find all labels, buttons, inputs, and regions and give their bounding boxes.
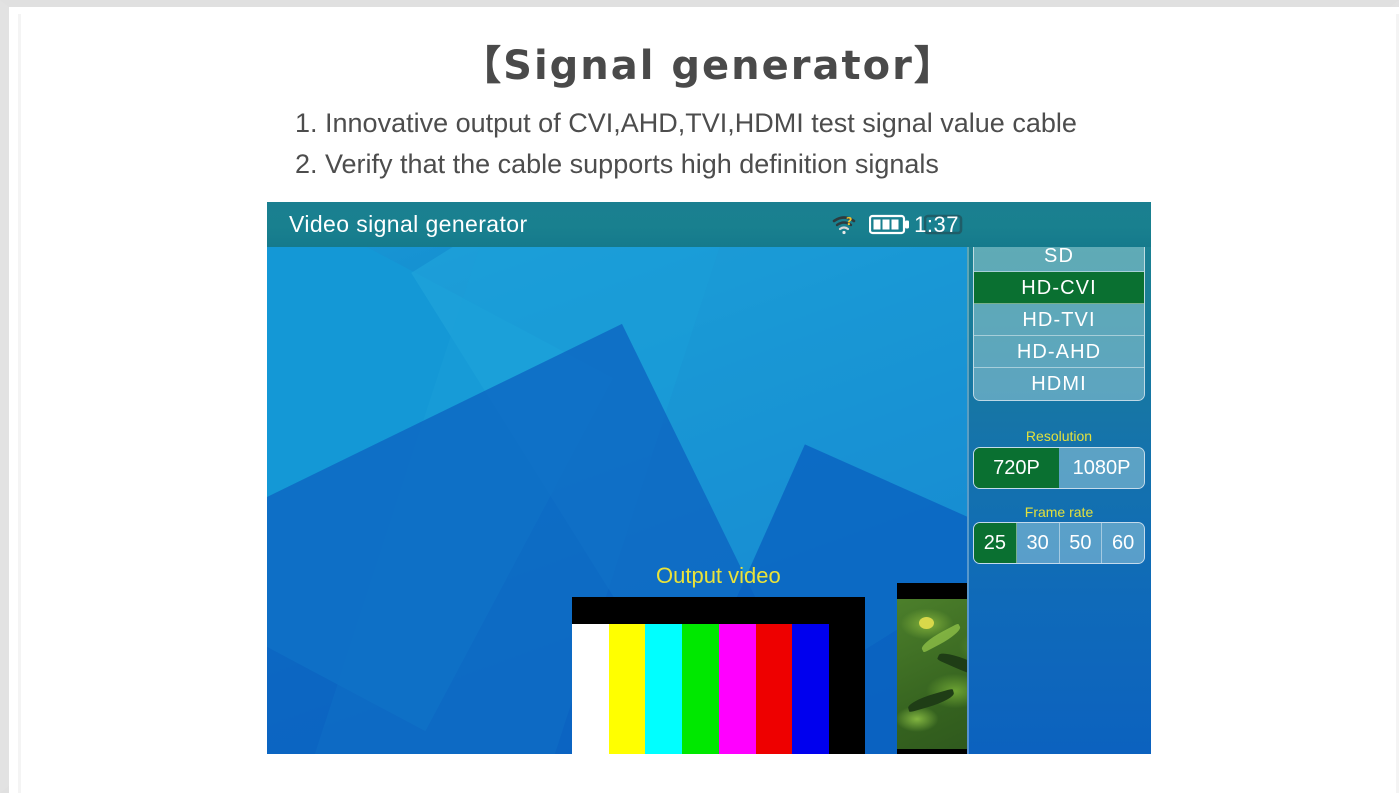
color-bars: [572, 624, 829, 754]
control-panel: Signal type selection SD HD-CVI HD-TVI H…: [967, 202, 1151, 754]
slide-canvas: 【Signal generator】 1. Innovative output …: [9, 7, 1399, 800]
yellow-flower: [919, 617, 934, 629]
signal-type-item-hd-tvi[interactable]: HD-TVI: [974, 304, 1144, 336]
titlebar: Video signal generator ?: [267, 202, 1151, 247]
frame-rate-title: Frame rate: [967, 504, 1151, 520]
signal-type-item-hd-cvi[interactable]: HD-CVI: [974, 272, 1144, 304]
signal-type-list: SD HD-CVI HD-TVI HD-AHD HDMI: [973, 239, 1145, 401]
bullet-item-1: 1. Innovative output of CVI,AHD,TVI,HDMI…: [295, 103, 1295, 144]
frame-rate-item-60[interactable]: 60: [1102, 523, 1144, 563]
frame-rate-item-30[interactable]: 30: [1017, 523, 1060, 563]
svg-text:?: ?: [846, 215, 852, 228]
color-bar: [609, 624, 646, 754]
page-title: 【Signal generator】: [9, 33, 1399, 91]
output-video-preview: [572, 597, 865, 754]
resolution-item-1080p[interactable]: 1080P: [1059, 448, 1144, 488]
color-bar: [572, 624, 609, 754]
signal-type-item-hd-ahd[interactable]: HD-AHD: [974, 336, 1144, 368]
color-bar: [792, 624, 829, 754]
resolution-item-720p[interactable]: 720P: [974, 448, 1059, 488]
clock: 1:37: [914, 212, 959, 238]
output-video-label: Output video: [656, 563, 781, 589]
color-bar: [682, 624, 719, 754]
color-bar: [756, 624, 793, 754]
battery-full-icon: [869, 214, 911, 235]
bullet-list: 1. Innovative output of CVI,AHD,TVI,HDMI…: [295, 103, 1295, 185]
frame-rate-item-25[interactable]: 25: [974, 523, 1017, 563]
wifi-unknown-icon: ?: [832, 215, 856, 235]
frame-rate-group: 25 30 50 60: [973, 522, 1145, 564]
frame-edge-left: [18, 14, 21, 793]
signal-type-item-hdmi[interactable]: HDMI: [974, 368, 1144, 400]
bullet-item-2: 2. Verify that the cable supports high d…: [295, 144, 1295, 185]
slide-frame: 【Signal generator】 1. Innovative output …: [0, 0, 1399, 793]
color-bar: [645, 624, 682, 754]
resolution-title: Resolution: [967, 428, 1151, 444]
app-title: Video signal generator: [289, 211, 528, 238]
frame-rate-item-50[interactable]: 50: [1060, 523, 1103, 563]
color-bar: [719, 624, 756, 754]
panel-divider: [967, 202, 969, 754]
resolution-group: 720P 1080P: [973, 447, 1145, 489]
device-screenshot: Video signal generator ?: [267, 202, 1151, 754]
